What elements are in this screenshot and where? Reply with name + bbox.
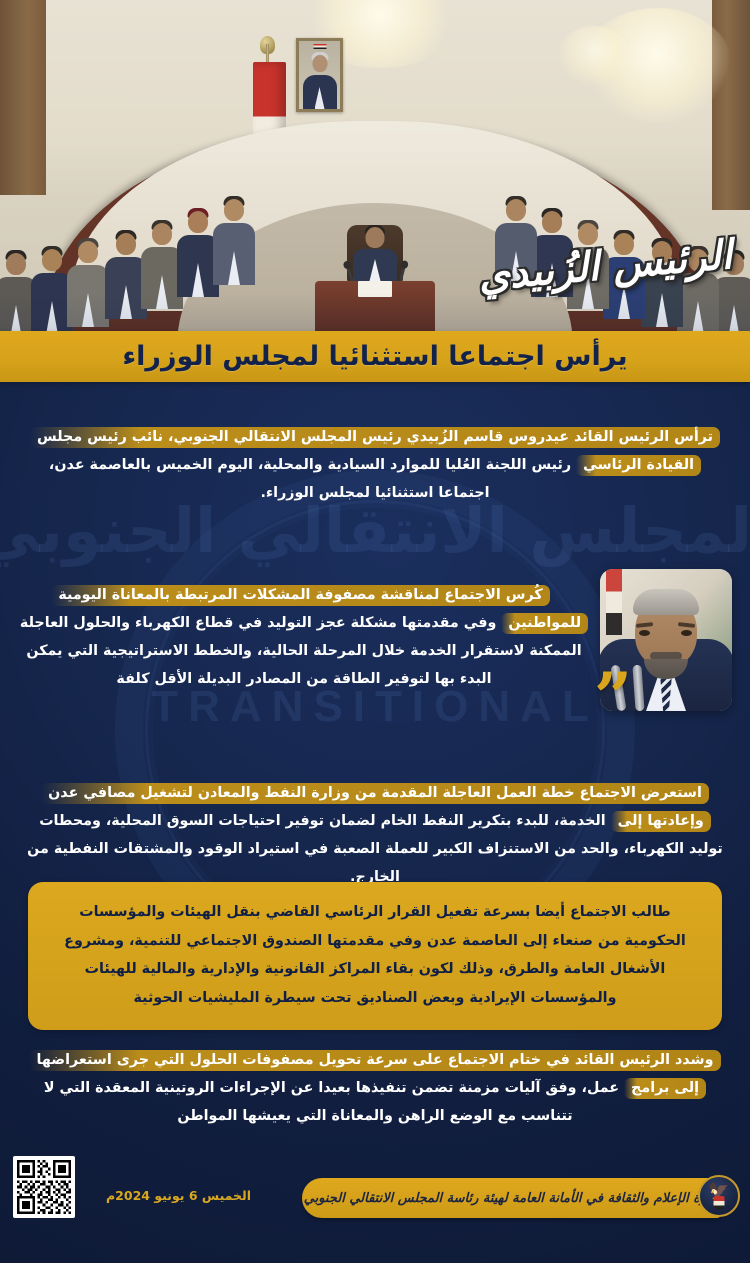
delegate-figure [212, 199, 256, 285]
quote-mark-icon: ” [594, 678, 632, 718]
southern-transitional-council-emblem-icon: 🦅 [696, 1172, 742, 1224]
portrait-head [312, 55, 327, 72]
flag-strip [606, 569, 622, 635]
paragraph-5-rest: عمل، وفق آليات مزمنة تضمن تنفيذها بعيدا … [44, 1080, 619, 1124]
photo-bottom-fade [0, 293, 750, 333]
paragraph-4-gold-box: طالب الاجتماع أيضا بسرعة تفعيل القرار ال… [28, 882, 722, 1030]
headline-text: يرأس اجتماعا استثنائيا لمجلس الوزراء [122, 343, 627, 370]
footer: الخميس 6 يونيو 2024م دائرة الإعلام والثق… [0, 1150, 750, 1263]
chandelier-icon [558, 26, 630, 86]
paragraph-1: ترأس الرئيس القائد عيدروس قاسم الزُبيدي … [25, 424, 725, 508]
paragraph-4: طالب الاجتماع أيضا بسرعة تفعيل القرار ال… [54, 898, 696, 1012]
paragraph-1-rest: رئيس اللجنة العُليا للموارد السيادية وال… [49, 457, 571, 501]
paragraph-5: وشدد الرئيس القائد في ختام الاجتماع على … [25, 1047, 725, 1131]
paragraph-3: استعرض الاجتماع خطة العمل العاجلة المقدم… [25, 780, 725, 892]
paragraph-2-rest: وفي مقدمتها مشكلة عجز التوليد في قطاع ال… [20, 615, 582, 687]
department-banner: دائرة الإعلام والثقافة في الأمانة العامة… [302, 1178, 722, 1218]
headline-band: يرأس اجتماعا استثنائيا لمجلس الوزراء [0, 331, 750, 382]
portrait-flag-detail [313, 44, 326, 49]
publication-date: الخميس 6 يونيو 2024م [106, 1188, 251, 1203]
body-section: المجلس الانتقالي الجنوبي TRANSITIONAL تر… [0, 382, 750, 1263]
wall-portrait-frame [296, 38, 343, 112]
paragraph-2: كُرس الاجتماع لمناقشة مصفوفة المشكلات ال… [18, 582, 590, 694]
department-name: دائرة الإعلام والثقافة في الأمانة العامة… [304, 1191, 721, 1206]
chairman-figure [352, 227, 398, 283]
news-infographic-poster: الرئيس الزُبيدي يرأس اجتماعا استثنائيا ل… [0, 0, 750, 1263]
wall-panel-left [0, 0, 46, 195]
qr-code[interactable] [13, 1156, 75, 1218]
